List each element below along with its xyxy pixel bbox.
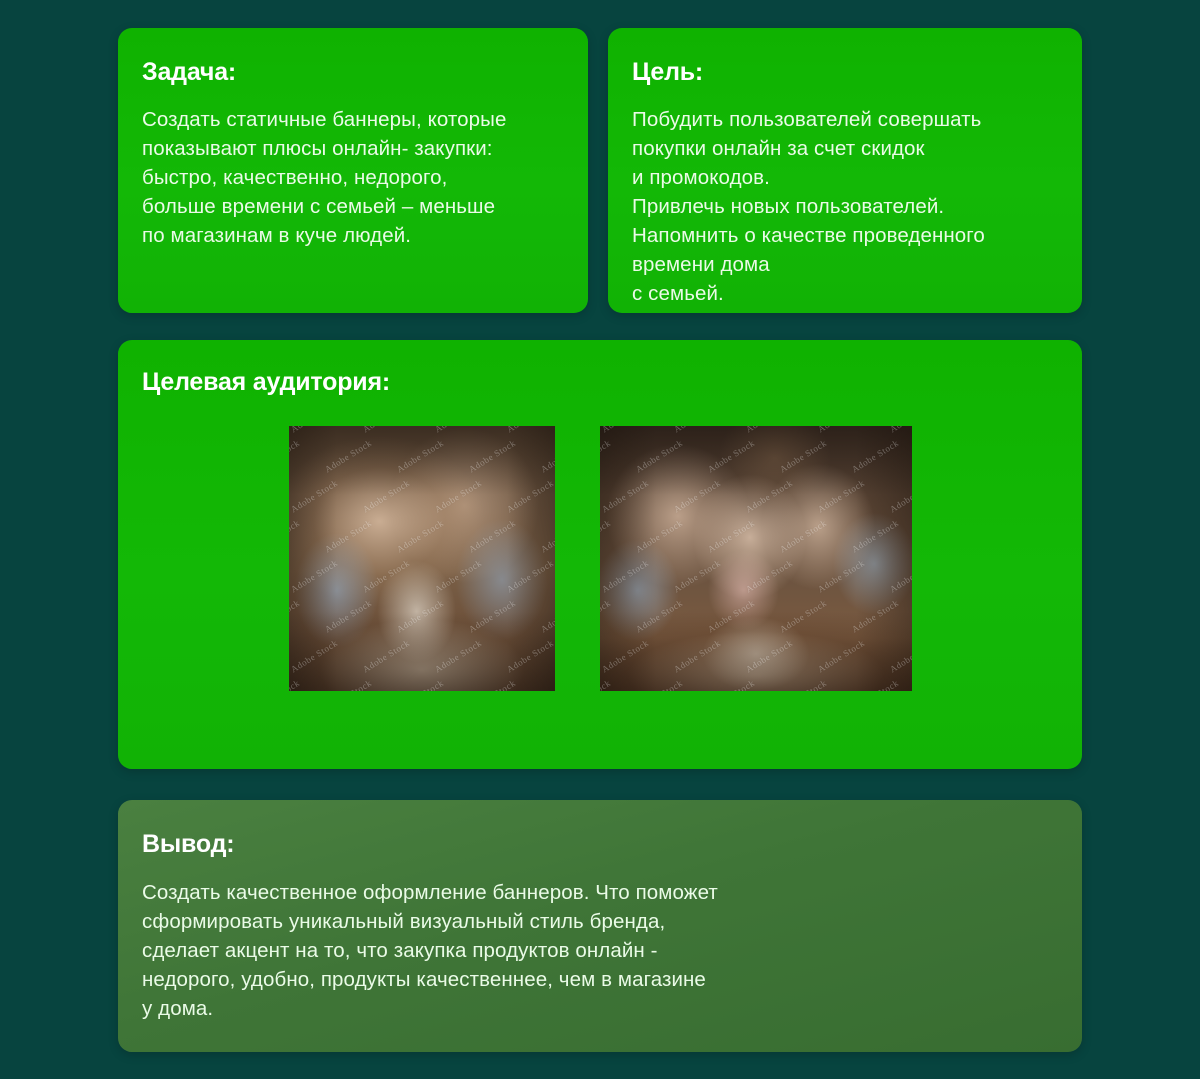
stock-watermark-text: Adobe Stock bbox=[433, 426, 484, 434]
photo-family-baking-cupcakes: Adobe StockAdobe StockAdobe StockAdobe S… bbox=[600, 426, 912, 691]
card-goal-body: Побудить пользователей совершать покупки… bbox=[632, 105, 1072, 308]
stock-watermark-text: Adobe Stock bbox=[634, 438, 685, 475]
stock-watermark-text: Adobe Stock bbox=[634, 518, 685, 555]
stock-watermark-text: Adobe Stock bbox=[706, 598, 757, 635]
stock-watermark-text: Adobe Stock bbox=[395, 598, 446, 635]
stock-watermark-text: Adobe Stock bbox=[778, 678, 829, 691]
stock-watermark-text: Adobe Stock bbox=[600, 638, 651, 675]
card-conclusion-title: Вывод: bbox=[142, 830, 234, 859]
stock-watermark-text: Adobe Stock bbox=[778, 518, 829, 555]
stock-watermark-text: Adobe Stock bbox=[888, 638, 912, 675]
photo-mother-and-daughter-baking: Adobe StockAdobe StockAdobe StockAdobe S… bbox=[289, 426, 555, 691]
stock-watermark-text: Adobe Stock bbox=[289, 678, 302, 691]
stock-watermark-text: Adobe Stock bbox=[600, 438, 613, 475]
stock-watermark-text: Adobe Stock bbox=[744, 426, 795, 434]
stock-watermark-text: Adobe Stock bbox=[433, 478, 484, 515]
stock-watermark-text: Adobe Stock bbox=[467, 598, 518, 635]
stock-watermark-text: Adobe Stock bbox=[888, 478, 912, 515]
stock-watermark-text: Adobe Stock bbox=[600, 478, 651, 515]
stock-watermark-text: Adobe Stock bbox=[672, 558, 723, 595]
stock-watermark-text: Adobe Stock bbox=[467, 438, 518, 475]
card-task: Задача: Создать статичные баннеры, котор… bbox=[118, 28, 588, 313]
stock-watermark-text: Adobe Stock bbox=[505, 478, 555, 515]
stock-watermark-text: Adobe Stock bbox=[744, 638, 795, 675]
stock-watermark-text: Adobe Stock bbox=[816, 478, 867, 515]
stock-watermark-text: Adobe Stock bbox=[672, 638, 723, 675]
card-conclusion: Вывод: Создать качественное оформление б… bbox=[118, 800, 1082, 1052]
stock-watermark-text: Adobe Stock bbox=[816, 426, 867, 434]
stock-watermark-text: Adobe Stock bbox=[323, 678, 374, 691]
stock-watermark-text: Adobe Stock bbox=[600, 518, 613, 555]
stock-watermark-text: Adobe Stock bbox=[467, 518, 518, 555]
stock-watermark-text: Adobe Stock bbox=[850, 518, 901, 555]
stock-watermark-text: Adobe Stock bbox=[289, 426, 340, 434]
stock-watermark-text: Adobe Stock bbox=[706, 678, 757, 691]
card-goal-title: Цель: bbox=[632, 58, 703, 87]
stock-watermark-text: Adobe Stock bbox=[744, 478, 795, 515]
stock-watermark-text: Adobe Stock bbox=[672, 426, 723, 434]
stock-watermark-text: Adobe Stock bbox=[395, 518, 446, 555]
stock-watermark-text: Adobe Stock bbox=[361, 558, 412, 595]
stock-watermark-text: Adobe Stock bbox=[672, 478, 723, 515]
stock-watermark-text: Adobe Stock bbox=[706, 518, 757, 555]
stock-watermark-text: Adobe Stock bbox=[888, 426, 912, 434]
stock-watermark-text: Adobe Stock bbox=[467, 678, 518, 691]
card-task-body: Создать статичные баннеры, которые показ… bbox=[142, 105, 572, 250]
stock-watermark-text: Adobe Stock bbox=[505, 426, 555, 434]
stock-watermark-text: Adobe Stock bbox=[323, 438, 374, 475]
card-conclusion-body: Создать качественное оформление баннеров… bbox=[142, 878, 1042, 1023]
stock-watermark-text: Adobe Stock bbox=[289, 438, 302, 475]
stock-watermark-text: Adobe Stock bbox=[816, 558, 867, 595]
stock-watermark-text: Adobe Stock bbox=[778, 438, 829, 475]
stock-watermark-text: Adobe Stock bbox=[539, 438, 555, 475]
stock-watermark-text: Adobe Stock bbox=[850, 598, 901, 635]
stock-watermark-text: Adobe Stock bbox=[433, 558, 484, 595]
stock-watermark-text: Adobe Stock bbox=[289, 638, 340, 675]
stock-watermark-text: Adobe Stock bbox=[816, 638, 867, 675]
stock-watermark-text: Adobe Stock bbox=[850, 678, 901, 691]
stock-watermark-overlay: Adobe StockAdobe StockAdobe StockAdobe S… bbox=[289, 426, 555, 691]
stock-watermark-text: Adobe Stock bbox=[539, 518, 555, 555]
stock-watermark-text: Adobe Stock bbox=[706, 438, 757, 475]
stock-watermark-text: Adobe Stock bbox=[361, 638, 412, 675]
stock-watermark-text: Adobe Stock bbox=[361, 478, 412, 515]
stock-watermark-text: Adobe Stock bbox=[634, 678, 685, 691]
stock-watermark-text: Adobe Stock bbox=[505, 638, 555, 675]
stock-watermark-text: Adobe Stock bbox=[289, 478, 340, 515]
stock-watermark-text: Adobe Stock bbox=[634, 598, 685, 635]
stock-watermark-text: Adobe Stock bbox=[289, 598, 302, 635]
stock-watermark-text: Adobe Stock bbox=[600, 678, 613, 691]
stock-watermark-text: Adobe Stock bbox=[361, 426, 412, 434]
card-task-title: Задача: bbox=[142, 58, 236, 87]
stock-watermark-text: Adobe Stock bbox=[505, 558, 555, 595]
stock-watermark-text: Adobe Stock bbox=[744, 558, 795, 595]
stock-watermark-text: Adobe Stock bbox=[395, 678, 446, 691]
stock-watermark-text: Adobe Stock bbox=[323, 598, 374, 635]
stock-watermark-text: Adobe Stock bbox=[600, 558, 651, 595]
stock-watermark-text: Adobe Stock bbox=[539, 678, 555, 691]
stock-watermark-text: Adobe Stock bbox=[323, 518, 374, 555]
stock-watermark-text: Adobe Stock bbox=[600, 426, 651, 434]
stock-watermark-text: Adobe Stock bbox=[433, 638, 484, 675]
card-audience-title: Целевая аудитория: bbox=[142, 368, 390, 397]
presentation-slide: Задача: Создать статичные баннеры, котор… bbox=[0, 0, 1200, 1079]
stock-watermark-overlay: Adobe StockAdobe StockAdobe StockAdobe S… bbox=[600, 426, 912, 691]
stock-watermark-text: Adobe Stock bbox=[289, 518, 302, 555]
stock-watermark-text: Adobe Stock bbox=[289, 558, 340, 595]
stock-watermark-text: Adobe Stock bbox=[778, 598, 829, 635]
stock-watermark-text: Adobe Stock bbox=[850, 438, 901, 475]
card-goal: Цель: Побудить пользователей совершать п… bbox=[608, 28, 1082, 313]
stock-watermark-text: Adobe Stock bbox=[600, 598, 613, 635]
stock-watermark-text: Adobe Stock bbox=[539, 598, 555, 635]
card-target-audience: Целевая аудитория: Adobe StockAdobe Stoc… bbox=[118, 340, 1082, 769]
stock-watermark-text: Adobe Stock bbox=[395, 438, 446, 475]
stock-watermark-text: Adobe Stock bbox=[888, 558, 912, 595]
audience-photo-gallery: Adobe StockAdobe StockAdobe StockAdobe S… bbox=[118, 426, 1082, 691]
